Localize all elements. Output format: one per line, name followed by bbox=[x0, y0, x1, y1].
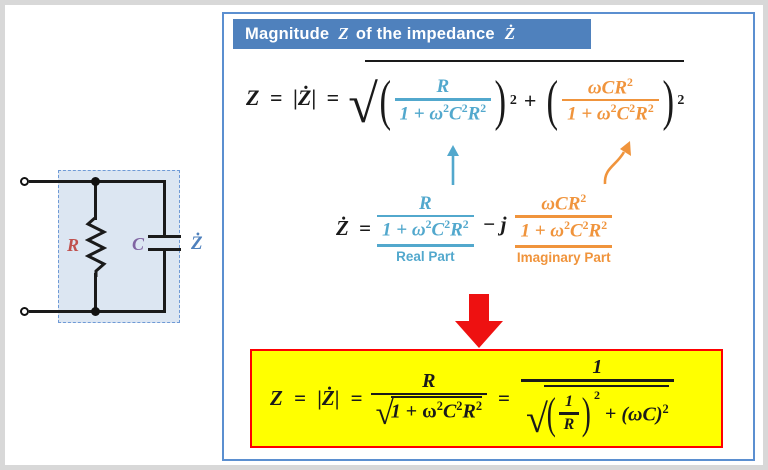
terminal-bottom-left bbox=[20, 307, 29, 316]
radical-vinculum bbox=[365, 60, 684, 62]
resistor-symbol bbox=[85, 217, 107, 277]
eq2-imag-numerator: ωCR2 bbox=[536, 193, 591, 214]
title-text-before: Magnitude bbox=[245, 25, 329, 44]
eq1-term1-denominator: 1 + ω2C2R2 bbox=[395, 102, 492, 125]
eq2-imag-denominator: 1 + ω2C2R2 bbox=[515, 219, 612, 242]
title-symbol-impedance: Ż bbox=[505, 24, 516, 44]
result-frac1-denominator: √ 1 + ω2C2R2 bbox=[371, 396, 487, 426]
eq1-term2-exponent: 2 bbox=[677, 93, 684, 109]
eq2-imag-group: ωCR2 1 + ω2C2R2 Imaginary Part bbox=[515, 193, 612, 265]
slide-canvas: R C Ż Magnitude Z of the impedance Ż Z =… bbox=[5, 5, 763, 465]
title-symbol-magnitude: Z bbox=[338, 24, 349, 44]
result-wc-term: (ωC)2 bbox=[621, 402, 668, 427]
equation-complex: Ż = R 1 + ω2C2R2 Real Part − j ωCR2 1 + … bbox=[336, 193, 612, 265]
capacitor-plate-top bbox=[148, 235, 181, 238]
orange-curved-arrow bbox=[600, 138, 640, 186]
eq1-term1-exponent: 2 bbox=[510, 93, 517, 109]
result-fraction-2: 1 √ ( 1 R ) 2 bbox=[521, 357, 674, 439]
result-paren-open: ( bbox=[547, 389, 556, 440]
result-fraction-1: R √ 1 + ω2C2R2 bbox=[371, 371, 487, 426]
eq1-term1-fraction: R 1 + ω2C2R2 bbox=[395, 77, 492, 125]
eq2-imag-fraction: ωCR2 1 + ω2C2R2 bbox=[515, 193, 612, 242]
paren-open-1: ( bbox=[379, 69, 391, 133]
wire-right-upper bbox=[163, 180, 166, 236]
result-lhs: Z = |Ż| = bbox=[270, 386, 371, 411]
result-equation: Z = |Ż| = R √ 1 + ω2C2R2 = bbox=[252, 357, 674, 439]
eq2-real-fraction: R 1 + ω2C2R2 bbox=[377, 194, 474, 242]
eq2-lhs: Ż = bbox=[336, 216, 377, 241]
result-inner-fraction: 1 R bbox=[559, 394, 580, 434]
imaginary-part-label: Imaginary Part bbox=[517, 250, 611, 265]
result-paren-close: ) bbox=[582, 389, 591, 440]
paren-close-2: ) bbox=[662, 69, 674, 133]
terminal-top-left bbox=[20, 177, 29, 186]
impedance-label: Ż bbox=[191, 233, 203, 255]
panel-title-bar: Magnitude Z of the impedance Ż bbox=[233, 19, 591, 49]
blue-up-arrow bbox=[445, 145, 461, 185]
eq1-radical: √ ( R 1 + ω2C2R2 ) 2 + ( ωCR2 bbox=[348, 63, 684, 133]
capacitor-plate-bottom bbox=[148, 248, 181, 251]
eq1-term1-numerator: R bbox=[432, 77, 455, 97]
result-inner-plus: + bbox=[605, 403, 616, 426]
eq2-real-denominator: 1 + ω2C2R2 bbox=[377, 218, 474, 241]
eq2-real-group: R 1 + ω2C2R2 Real Part bbox=[377, 194, 474, 265]
equation-magnitude: Z = |Ż| = √ ( R 1 + ω2C2R2 ) 2 + bbox=[246, 63, 684, 133]
eq2-operator: − j bbox=[483, 212, 507, 237]
paren-open-2: ( bbox=[547, 69, 559, 133]
eq2-real-numerator: R bbox=[414, 194, 437, 214]
wire-right-lower bbox=[163, 251, 166, 313]
result-box: Z = |Ż| = R √ 1 + ω2C2R2 = bbox=[250, 349, 723, 448]
eq1-term2-numerator: ωCR2 bbox=[583, 77, 638, 98]
node-bottom bbox=[91, 307, 100, 316]
resistor-label: R bbox=[67, 235, 79, 256]
result-inner-denominator: R bbox=[559, 416, 580, 434]
eq1-plus: + bbox=[524, 88, 537, 114]
wire-resistor-upper bbox=[94, 180, 97, 220]
result-inner-exponent: 2 bbox=[594, 389, 600, 403]
result-inner-numerator: 1 bbox=[560, 394, 578, 411]
eq1-lhs: Z = |Ż| = bbox=[246, 85, 344, 111]
result-frac1-numerator: R bbox=[417, 371, 440, 392]
eq1-term2-fraction: ωCR2 1 + ω2C2R2 bbox=[562, 77, 659, 126]
circuit-diagram: R C Ż bbox=[5, 155, 220, 345]
node-top bbox=[91, 177, 100, 186]
paren-close-1: ) bbox=[495, 69, 507, 133]
capacitor-label: C bbox=[132, 234, 144, 255]
real-part-label: Real Part bbox=[396, 249, 455, 264]
title-text-middle: of the impedance bbox=[356, 25, 495, 44]
eq1-term2-denominator: 1 + ω2C2R2 bbox=[562, 102, 659, 125]
result-frac2-denominator: √ ( 1 R ) 2 + (ωC)2 bbox=[521, 383, 674, 440]
result-frac2-numerator: 1 bbox=[587, 357, 607, 378]
result-equals-2: = bbox=[498, 386, 510, 411]
red-down-arrow bbox=[453, 294, 505, 349]
